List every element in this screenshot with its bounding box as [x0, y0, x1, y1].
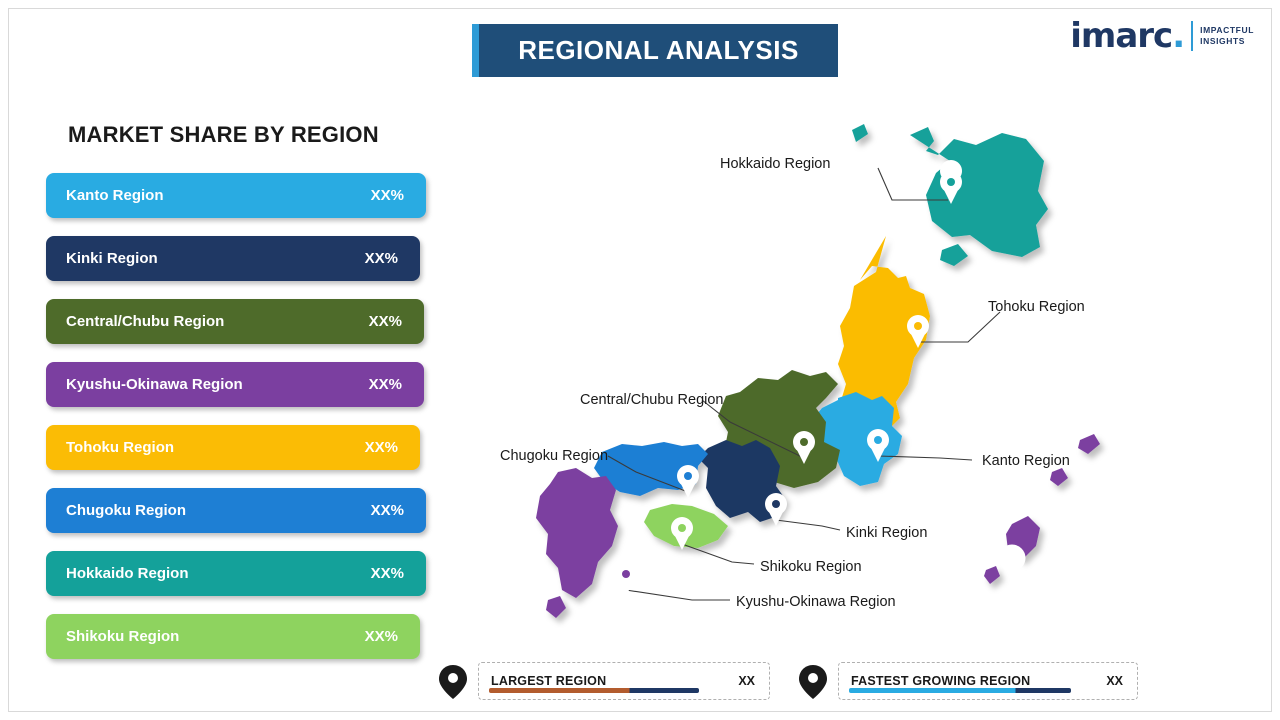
largest-region-value: XX: [738, 674, 755, 688]
japan-map: Hokkaido Region Tohoku Region Central/Ch…: [440, 100, 1240, 660]
region-kyushu[interactable]: [536, 468, 618, 618]
map-label-kanto: Kanto Region: [982, 453, 1070, 469]
legend-value: XX%: [369, 376, 402, 393]
legend-value: XX%: [365, 439, 398, 456]
japan-map-svg: [440, 100, 1240, 660]
logo-tagline: IMPACTFUL INSIGHTS: [1200, 25, 1254, 47]
legend-row-kanto[interactable]: Kanto Region XX%: [46, 173, 426, 218]
legend-label: Chugoku Region: [46, 502, 186, 519]
fastest-region-pin-icon: [798, 664, 828, 700]
legend-label: Shikoku Region: [46, 628, 179, 645]
legend-label: Kyushu-Okinawa Region: [46, 376, 243, 393]
market-share-legend: Kanto Region XX% Kinki Region XX% Centra…: [46, 173, 436, 677]
logo-tagline-line2: INSIGHTS: [1200, 36, 1254, 47]
legend-label: Kinki Region: [46, 250, 158, 267]
logo-tagline-line1: IMPACTFUL: [1200, 25, 1254, 36]
map-label-kyushu-okinawa: Kyushu-Okinawa Region: [736, 594, 896, 610]
largest-region-label: LARGEST REGION: [479, 674, 606, 688]
legend-value: XX%: [371, 502, 404, 519]
map-label-kinki: Kinki Region: [846, 525, 927, 541]
legend-value: XX%: [369, 313, 402, 330]
fastest-region-progress: [849, 688, 1071, 693]
legend-row-shikoku[interactable]: Shikoku Region XX%: [46, 614, 420, 659]
largest-region-pin-icon: [438, 664, 468, 700]
legend-value: XX%: [371, 187, 404, 204]
legend-label: Tohoku Region: [46, 439, 174, 456]
map-label-hokkaido: Hokkaido Region: [720, 156, 830, 172]
legend-value: XX%: [365, 250, 398, 267]
legend-row-kyushu-okinawa[interactable]: Kyushu-Okinawa Region XX%: [46, 362, 424, 407]
largest-region-progress: [489, 688, 699, 693]
summary-bars: LARGEST REGION XX FASTEST GROWING REGION…: [430, 662, 1150, 704]
map-label-tohoku: Tohoku Region: [988, 299, 1085, 315]
legend-row-tohoku[interactable]: Tohoku Region XX%: [46, 425, 420, 470]
logo-wordmark: imarc.: [1070, 16, 1184, 56]
imarc-logo: imarc. IMPACTFUL INSIGHTS: [1070, 16, 1254, 56]
legend-label: Hokkaido Region: [46, 565, 189, 582]
fastest-region-value: XX: [1106, 674, 1123, 688]
page-title: REGIONAL ANALYSIS: [472, 24, 838, 77]
panel-title: MARKET SHARE BY REGION: [68, 122, 379, 148]
page-title-text: REGIONAL ANALYSIS: [518, 35, 799, 66]
map-label-central-chubu: Central/Chubu Region: [580, 392, 723, 408]
legend-row-hokkaido[interactable]: Hokkaido Region XX%: [46, 551, 426, 596]
legend-row-central-chubu[interactable]: Central/Chubu Region XX%: [46, 299, 424, 344]
fastest-region-label: FASTEST GROWING REGION: [839, 674, 1030, 688]
legend-row-chugoku[interactable]: Chugoku Region XX%: [46, 488, 426, 533]
legend-value: XX%: [365, 628, 398, 645]
legend-label: Central/Chubu Region: [46, 313, 224, 330]
map-label-shikoku: Shikoku Region: [760, 559, 862, 575]
largest-region-card[interactable]: LARGEST REGION XX: [478, 662, 770, 700]
fastest-region-card[interactable]: FASTEST GROWING REGION XX: [838, 662, 1138, 700]
legend-value: XX%: [371, 565, 404, 582]
map-label-chugoku: Chugoku Region: [500, 448, 608, 464]
legend-label: Kanto Region: [46, 187, 164, 204]
logo-divider: [1191, 21, 1193, 51]
legend-row-kinki[interactable]: Kinki Region XX%: [46, 236, 420, 281]
